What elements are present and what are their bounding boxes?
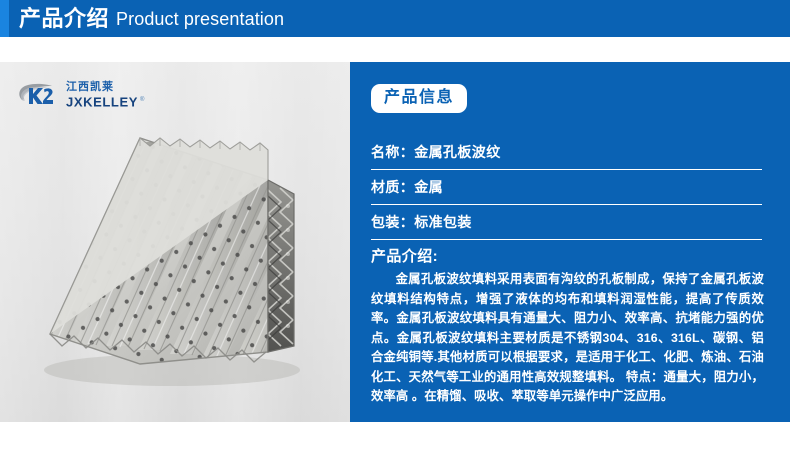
- spec-material-label: 材质：金属: [371, 177, 443, 197]
- registered-mark-icon: ®: [140, 97, 145, 103]
- company-logo: 江西凯莱 JXKELLEY®: [16, 80, 145, 110]
- product-image-panel: 江西凯莱 JXKELLEY®: [0, 62, 350, 422]
- spec-name-value: 金属孔板波纹: [414, 144, 500, 160]
- spec-name-label: 名称：金属孔板波纹: [371, 142, 501, 162]
- product-photo: [22, 102, 328, 402]
- product-info-panel: 产品信息 名称：金属孔板波纹 材质：金属 包装：标准包装: [350, 62, 790, 422]
- content-row: 江西凯莱 JXKELLEY®: [0, 62, 790, 422]
- logo-en-word: JXKELLEY: [66, 94, 138, 109]
- logo-text-cn: 江西凯莱: [66, 81, 145, 93]
- header-accent-bar: [0, 0, 9, 37]
- spec-packaging-key: 包装：: [371, 214, 414, 230]
- spec-packaging-label: 包装：标准包装: [371, 212, 472, 232]
- product-presentation-page: 产品介绍 Product presentation: [0, 0, 790, 450]
- product-spec-list: 名称：金属孔板波纹 材质：金属 包装：标准包装: [371, 135, 762, 240]
- kelley-logo-mark-icon: [16, 80, 62, 110]
- description-body: 金属孔板波纹填料采用表面有沟纹的孔板制成，保持了金属孔板波纹填料结构特点，增强了…: [371, 270, 764, 407]
- page-title: 产品介绍 Product presentation: [19, 0, 284, 37]
- page-header: 产品介绍 Product presentation: [0, 0, 790, 37]
- spec-name-key: 名称：: [371, 144, 414, 160]
- product-info-badge: 产品信息: [371, 84, 467, 113]
- page-title-en: Product presentation: [116, 10, 284, 28]
- spec-row-name: 名称：金属孔板波纹: [371, 135, 762, 170]
- spec-row-packaging: 包装：标准包装: [371, 205, 762, 240]
- logo-text: 江西凯莱 JXKELLEY®: [66, 81, 145, 109]
- spec-material-value: 金属: [414, 179, 443, 195]
- spec-row-material: 材质：金属: [371, 170, 762, 205]
- page-title-cn: 产品介绍: [19, 8, 109, 30]
- logo-text-en: JXKELLEY®: [66, 93, 145, 109]
- spec-packaging-value: 标准包装: [414, 214, 472, 230]
- spec-material-key: 材质：: [371, 179, 414, 195]
- product-info-badge-label: 产品信息: [384, 89, 454, 107]
- description-heading: 产品介绍:: [371, 245, 438, 266]
